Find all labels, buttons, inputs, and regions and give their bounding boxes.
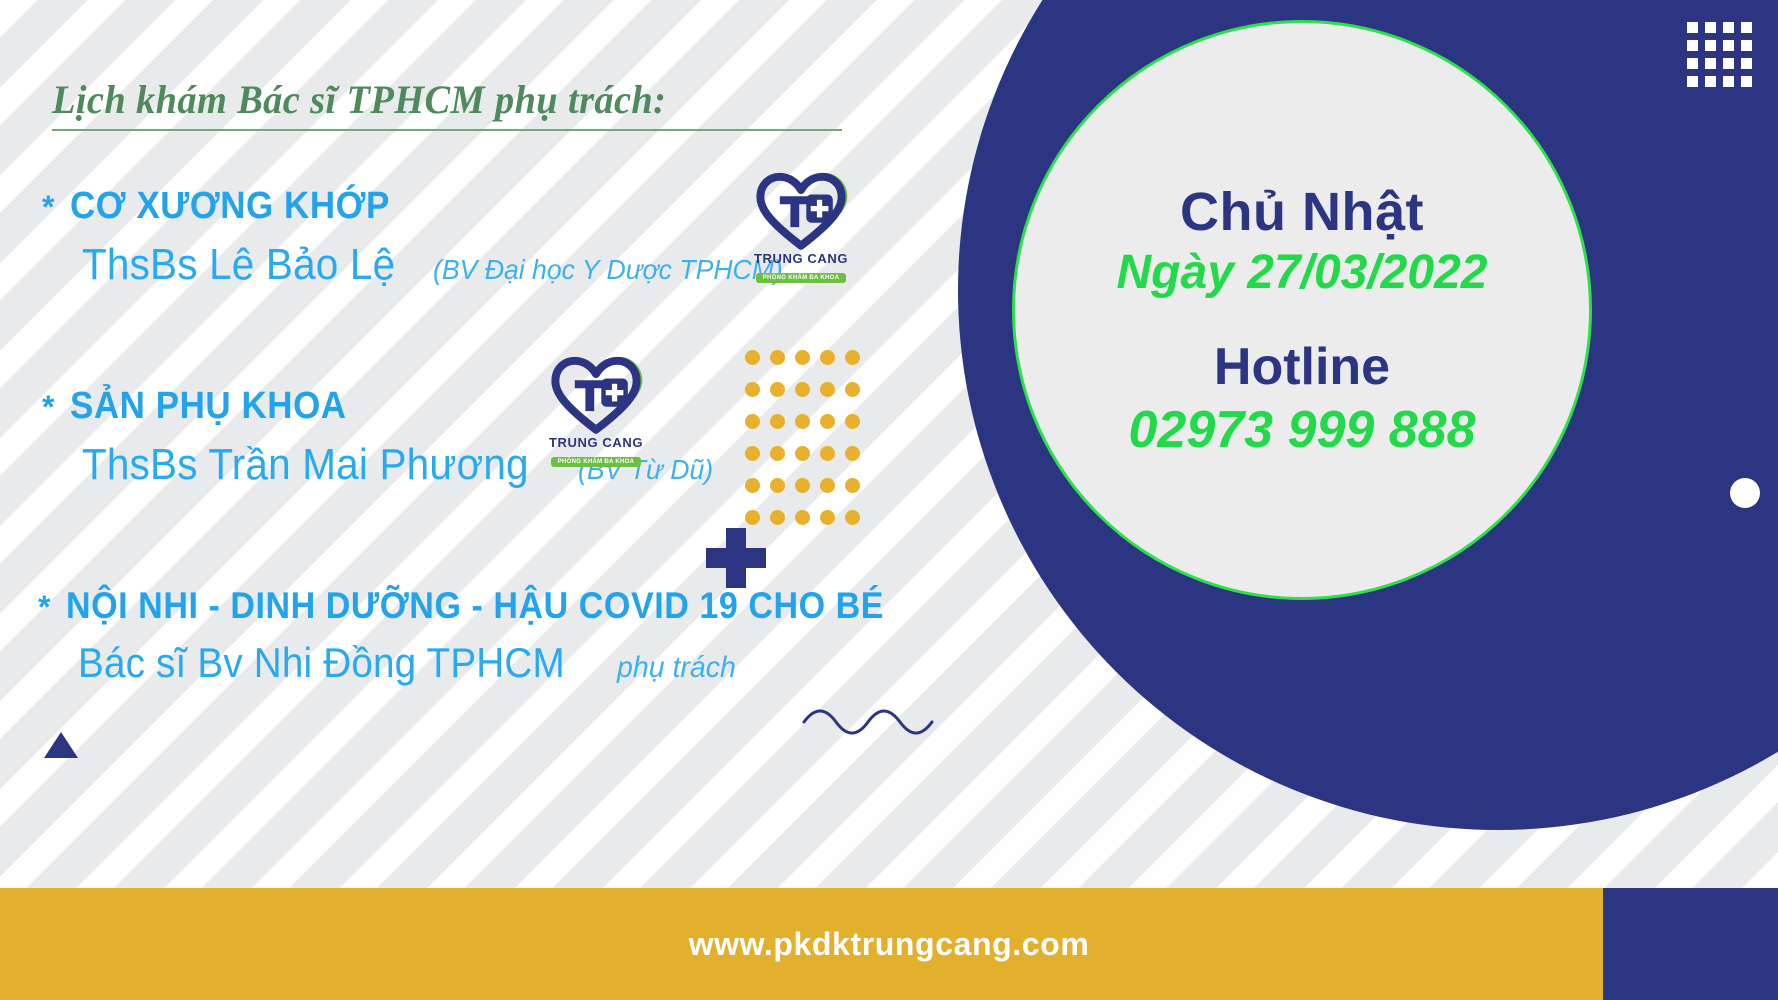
bullet-star-icon: * xyxy=(42,189,54,226)
doctor-name: ThsBs Trần Mai Phương xyxy=(82,440,529,490)
brand-logo: TRUNG CANG PHÒNG KHÁM ĐA KHOA xyxy=(543,352,649,468)
triangle-icon xyxy=(44,732,78,758)
page-title: Lịch khám Bác sĩ TPHCM phụ trách: xyxy=(52,76,810,123)
brand-logo-name: TRUNG CANG xyxy=(748,251,854,266)
specialty-title: CƠ XƯƠNG KHỚP xyxy=(70,185,390,228)
gold-dot-grid-icon xyxy=(745,350,870,542)
footer-bar: www.pkdktrungcang.com xyxy=(0,888,1778,1000)
specialty-title: SẢN PHỤ KHOA xyxy=(70,385,347,428)
white-dot-grid-icon xyxy=(1687,22,1754,89)
tc-heart-logo-icon xyxy=(543,352,649,437)
circle-hotline-label: Hotline xyxy=(1214,340,1390,395)
footer-accent-block xyxy=(1603,888,1778,1000)
plus-icon xyxy=(706,528,766,588)
doctor-line: Bác sĩ Bv Nhi Đồng TPHCM phụ trách xyxy=(78,639,956,687)
poster-canvas: Chủ Nhật Ngày 27/03/2022 Hotline 02973 9… xyxy=(0,0,1778,1000)
doctor-name: ThsBs Lê Bảo Lệ xyxy=(82,240,395,290)
bullet-star-icon: * xyxy=(38,589,50,626)
tc-heart-logo-icon xyxy=(748,168,854,253)
circle-day-label: Chủ Nhật xyxy=(1180,184,1424,241)
specialty-heading: * NỘI NHI - DINH DƯỠNG - HẬU COVID 19 CH… xyxy=(38,585,956,627)
brand-logo-name: TRUNG CANG xyxy=(543,435,649,450)
footer-website-url[interactable]: www.pkdktrungcang.com xyxy=(689,926,1090,963)
brand-logo-tagline: PHÒNG KHÁM ĐA KHOA xyxy=(551,457,642,467)
white-dot-decoration xyxy=(1730,478,1760,508)
wave-icon xyxy=(800,700,950,740)
info-circle: Chủ Nhật Ngày 27/03/2022 Hotline 02973 9… xyxy=(1012,20,1592,600)
specialty-title: NỘI NHI - DINH DƯỠNG - HẬU COVID 19 CHO … xyxy=(66,585,884,627)
bullet-star-icon: * xyxy=(42,389,54,426)
doctor-line: ThsBs Lê Bảo Lệ (BV Đại học Y Dược TPHCM… xyxy=(82,240,801,290)
page-title-wrap: Lịch khám Bác sĩ TPHCM phụ trách: xyxy=(52,76,842,131)
brand-logo: TRUNG CANG PHÒNG KHÁM ĐA KHOA xyxy=(748,168,854,284)
specialty-section-3: * NỘI NHI - DINH DƯỠNG - HẬU COVID 19 CH… xyxy=(38,585,956,687)
doctor-hospital: phụ trách xyxy=(617,651,736,685)
specialty-heading: * CƠ XƯƠNG KHỚP xyxy=(42,185,801,228)
title-underline xyxy=(52,129,842,131)
circle-hotline-number[interactable]: 02973 999 888 xyxy=(1128,402,1475,459)
doctor-name: Bác sĩ Bv Nhi Đồng TPHCM xyxy=(78,639,565,687)
brand-logo-tagline: PHÒNG KHÁM ĐA KHOA xyxy=(756,273,847,283)
specialty-section-1: * CƠ XƯƠNG KHỚP ThsBs Lê Bảo Lệ (BV Đại … xyxy=(42,185,801,290)
doctor-hospital: (BV Đại học Y Dược TPHCM) xyxy=(433,254,783,286)
circle-date-label: Ngày 27/03/2022 xyxy=(1117,247,1488,300)
